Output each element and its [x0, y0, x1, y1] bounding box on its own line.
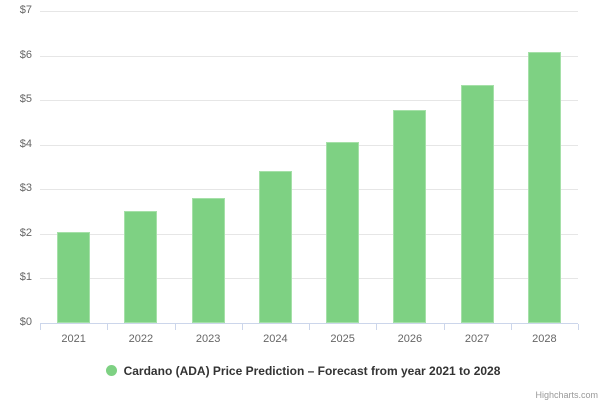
- highcharts-credits[interactable]: Highcharts.com: [535, 390, 598, 400]
- y-axis-tick-label: $2: [0, 228, 32, 239]
- x-axis-tick-label: 2028: [532, 333, 556, 346]
- bar-2023[interactable]: [192, 198, 225, 323]
- bar-2025[interactable]: [326, 142, 359, 323]
- x-axis-tick-label: 2023: [196, 333, 220, 346]
- y-axis-tick-label: $3: [0, 183, 32, 194]
- legend-marker-icon: [106, 365, 117, 376]
- x-axis-tick-label: 2026: [398, 333, 422, 346]
- x-axis-tick: [40, 324, 41, 330]
- legend-label: Cardano (ADA) Price Prediction – Forecas…: [124, 364, 501, 378]
- chart-container: $0$1$2$3$4$5$6$7 20212022202320242025202…: [0, 0, 606, 405]
- bar-2024[interactable]: [259, 171, 292, 323]
- y-axis-tick-label: $6: [0, 50, 32, 61]
- gridline: [40, 100, 578, 101]
- y-axis-tick-label: $5: [0, 94, 32, 105]
- x-axis-tick: [107, 324, 108, 330]
- gridline: [40, 278, 578, 279]
- x-axis-tick: [376, 324, 377, 330]
- gridline: [40, 234, 578, 235]
- x-axis-tick: [444, 324, 445, 330]
- x-axis-tick-label: 2027: [465, 333, 489, 346]
- bar-2021[interactable]: [57, 232, 90, 323]
- x-axis-tick-label: 2024: [263, 333, 287, 346]
- gridline: [40, 145, 578, 146]
- x-axis-tick: [175, 324, 176, 330]
- x-axis-tick: [511, 324, 512, 330]
- x-axis-tick-label: 2025: [330, 333, 354, 346]
- gridline: [40, 56, 578, 57]
- gridline: [40, 11, 578, 12]
- bar-2022[interactable]: [124, 211, 157, 323]
- bar-2028[interactable]: [528, 52, 561, 323]
- y-axis-tick-label: $7: [0, 5, 32, 16]
- gridline: [40, 189, 578, 190]
- y-axis: $0$1$2$3$4$5$6$7: [0, 11, 32, 323]
- bar-2027[interactable]: [461, 85, 494, 323]
- x-axis-tick: [309, 324, 310, 330]
- x-axis-tick-label: 2021: [61, 333, 85, 346]
- chart-legend: Cardano (ADA) Price Prediction – Forecas…: [0, 362, 606, 380]
- y-axis-tick-label: $1: [0, 272, 32, 283]
- legend-item-cardano-ada[interactable]: Cardano (ADA) Price Prediction – Forecas…: [106, 362, 501, 380]
- x-axis-tick: [578, 324, 579, 330]
- x-axis-tick: [242, 324, 243, 330]
- y-axis-tick-label: $0: [0, 317, 32, 328]
- y-axis-tick-label: $4: [0, 139, 32, 150]
- plot-area: [40, 11, 578, 323]
- x-axis-tick-label: 2022: [129, 333, 153, 346]
- bar-2026[interactable]: [393, 110, 426, 323]
